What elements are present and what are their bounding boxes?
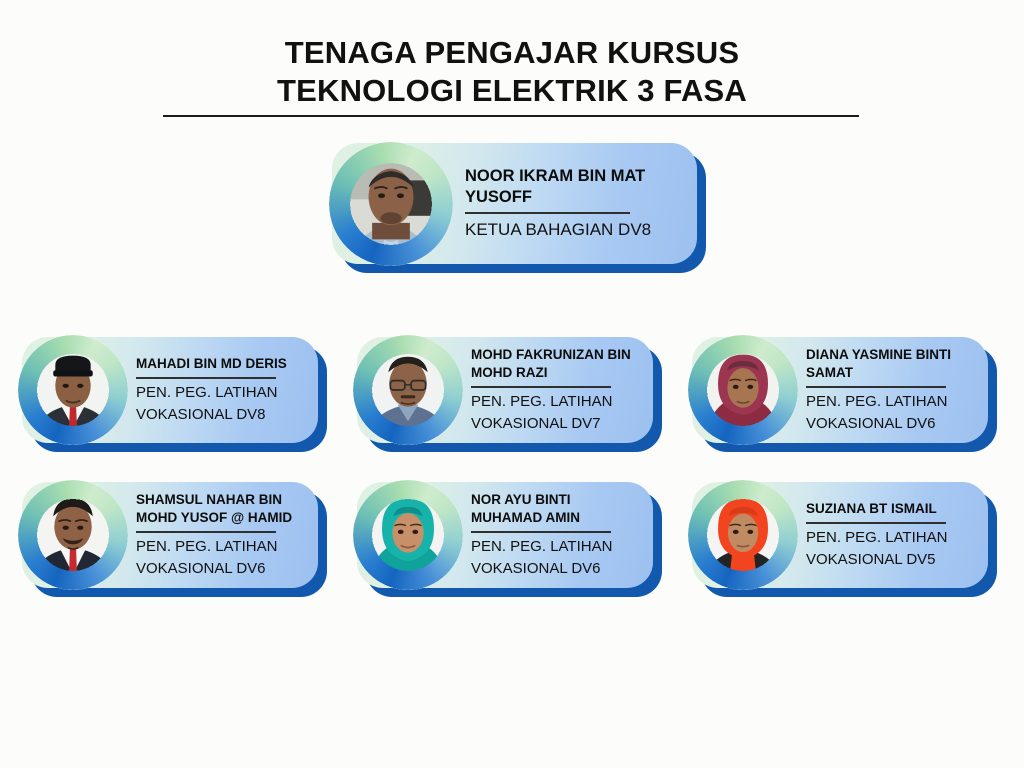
person-role: PEN. PEG. LATIHAN VOKASIONAL DV5	[806, 527, 976, 571]
card-body: MAHADI BIN MD DERIS PEN. PEG. LATIHAN VO…	[22, 337, 318, 443]
person-card-1[interactable]: MOHD FAKRUNIZAN BIN MOHD RAZI PEN. PEG. …	[357, 337, 662, 452]
card-body: NOR AYU BINTI MUHAMAD AMIN PEN. PEG. LAT…	[357, 482, 653, 588]
card-body: SHAMSUL NAHAR BIN MOHD YUSOF @ HAMID PEN…	[22, 482, 318, 588]
avatar	[18, 480, 128, 590]
person-role: KETUA BAHAGIAN DV8	[465, 217, 685, 242]
avatar-photo-diana-yasmine	[691, 338, 795, 442]
person-card-4[interactable]: NOR AYU BINTI MUHAMAD AMIN PEN. PEG. LAT…	[357, 482, 662, 597]
avatar	[688, 480, 798, 590]
person-card-0[interactable]: MAHADI BIN MD DERIS PEN. PEG. LATIHAN VO…	[22, 337, 327, 452]
avatar	[18, 335, 128, 445]
name-divider	[136, 377, 276, 379]
card-text: MOHD FAKRUNIZAN BIN MOHD RAZI PEN. PEG. …	[463, 346, 653, 435]
person-name: SHAMSUL NAHAR BIN MOHD YUSOF @ HAMID	[136, 491, 306, 527]
card-text: NOOR IKRAM BIN MAT YUSOFF KETUA BAHAGIAN…	[453, 166, 697, 242]
person-card-3[interactable]: SHAMSUL NAHAR BIN MOHD YUSOF @ HAMID PEN…	[22, 482, 327, 597]
avatar-photo-mahadi	[21, 338, 125, 442]
name-divider	[471, 531, 611, 533]
name-divider	[806, 522, 946, 524]
card-text: SHAMSUL NAHAR BIN MOHD YUSOF @ HAMID PEN…	[128, 491, 318, 580]
avatar-photo-suziana	[691, 483, 795, 587]
card-body: NOOR IKRAM BIN MAT YUSOFF KETUA BAHAGIAN…	[332, 143, 697, 264]
name-divider	[136, 531, 276, 533]
avatar-photo-shamsul-nahar	[21, 483, 125, 587]
person-name: NOR AYU BINTI MUHAMAD AMIN	[471, 491, 641, 527]
avatar	[329, 142, 453, 266]
person-role: PEN. PEG. LATIHAN VOKASIONAL DV6	[806, 391, 976, 435]
card-body: DIANA YASMINE BINTI SAMAT PEN. PEG. LATI…	[692, 337, 988, 443]
card-text: SUZIANA BT ISMAIL PEN. PEG. LATIHAN VOKA…	[798, 500, 988, 571]
avatar-photo-mohd-fakrunizan	[356, 338, 460, 442]
person-name: DIANA YASMINE BINTI SAMAT	[806, 346, 976, 382]
card-text: NOR AYU BINTI MUHAMAD AMIN PEN. PEG. LAT…	[463, 491, 653, 580]
person-name: MAHADI BIN MD DERIS	[136, 355, 306, 373]
name-divider	[471, 386, 611, 388]
card-text: DIANA YASMINE BINTI SAMAT PEN. PEG. LATI…	[798, 346, 988, 435]
avatar-photo-nor-ayu	[356, 483, 460, 587]
page-title: TENAGA PENGAJAR KURSUS TEKNOLOGI ELEKTRI…	[0, 34, 1024, 110]
name-divider	[465, 212, 630, 214]
avatar	[353, 335, 463, 445]
person-card-head[interactable]: NOOR IKRAM BIN MAT YUSOFF KETUA BAHAGIAN…	[332, 143, 706, 273]
avatar	[353, 480, 463, 590]
person-role: PEN. PEG. LATIHAN VOKASIONAL DV6	[471, 536, 641, 580]
avatar	[688, 335, 798, 445]
person-name: SUZIANA BT ISMAIL	[806, 500, 976, 518]
person-name: NOOR IKRAM BIN MAT YUSOFF	[465, 166, 685, 208]
card-body: SUZIANA BT ISMAIL PEN. PEG. LATIHAN VOKA…	[692, 482, 988, 588]
person-role: PEN. PEG. LATIHAN VOKASIONAL DV6	[136, 536, 306, 580]
person-role: PEN. PEG. LATIHAN VOKASIONAL DV7	[471, 391, 641, 435]
page-title-line-1: TENAGA PENGAJAR KURSUS	[0, 34, 1024, 72]
page-title-line-2: TEKNOLOGI ELEKTRIK 3 FASA	[0, 72, 1024, 110]
card-body: MOHD FAKRUNIZAN BIN MOHD RAZI PEN. PEG. …	[357, 337, 653, 443]
person-role: PEN. PEG. LATIHAN VOKASIONAL DV8	[136, 382, 306, 426]
title-divider-rule	[163, 115, 859, 117]
avatar-photo-noor-ikram	[332, 145, 450, 263]
person-card-2[interactable]: DIANA YASMINE BINTI SAMAT PEN. PEG. LATI…	[692, 337, 997, 452]
name-divider	[806, 386, 946, 388]
person-card-5[interactable]: SUZIANA BT ISMAIL PEN. PEG. LATIHAN VOKA…	[692, 482, 997, 597]
person-name: MOHD FAKRUNIZAN BIN MOHD RAZI	[471, 346, 641, 382]
card-text: MAHADI BIN MD DERIS PEN. PEG. LATIHAN VO…	[128, 355, 318, 426]
